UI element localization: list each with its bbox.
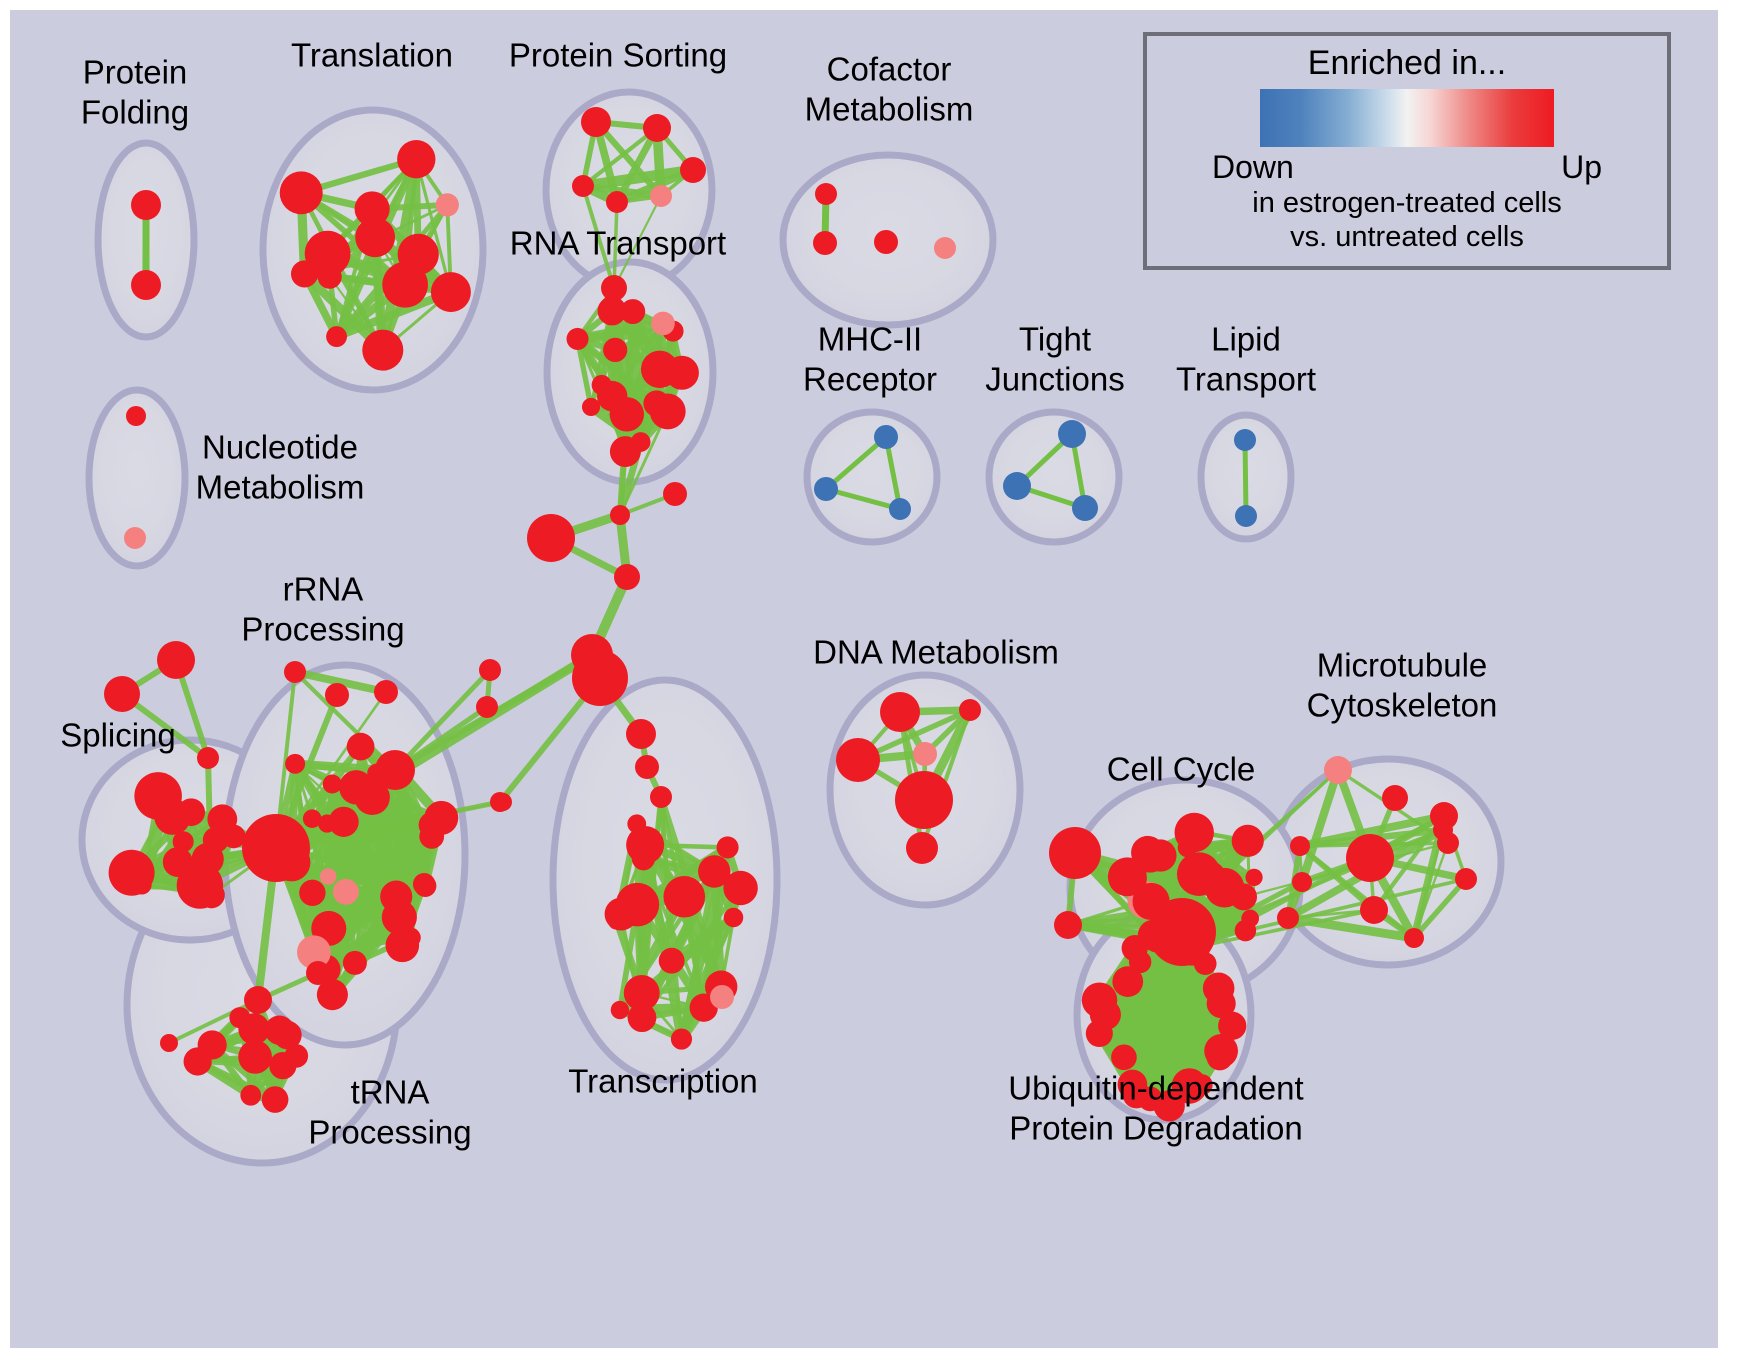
network-node[interactable]	[476, 696, 498, 718]
network-node[interactable]	[1049, 827, 1101, 879]
cluster-label-mhc-ii-receptor: Receptor	[803, 361, 937, 398]
network-node[interactable]	[643, 390, 669, 416]
network-node[interactable]	[244, 986, 272, 1014]
network-node[interactable]	[280, 171, 323, 214]
network-node[interactable]	[285, 1044, 309, 1068]
network-node[interactable]	[1218, 1012, 1246, 1040]
network-node[interactable]	[814, 477, 838, 501]
network-node[interactable]	[1194, 952, 1217, 975]
network-node[interactable]	[197, 747, 219, 769]
cluster-label-transcription: Transcription	[568, 1063, 758, 1100]
network-node[interactable]	[490, 792, 510, 812]
network-node[interactable]	[156, 798, 175, 817]
network-node[interactable]	[1292, 872, 1312, 892]
legend-panel: Enriched in... Down Up in estrogen-treat…	[1143, 32, 1671, 270]
cluster-label-rrna-processing: Processing	[241, 611, 404, 648]
network-node[interactable]	[572, 175, 594, 197]
network-node[interactable]	[959, 699, 981, 721]
cluster-label-tight-junctions: Junctions	[985, 361, 1124, 398]
network-node[interactable]	[203, 827, 229, 853]
legend-low-label: Down	[1212, 149, 1294, 186]
network-edge	[1245, 440, 1246, 516]
network-node[interactable]	[895, 771, 953, 829]
network-node[interactable]	[723, 871, 757, 905]
network-node[interactable]	[436, 193, 459, 216]
network-node[interactable]	[680, 157, 706, 183]
network-node[interactable]	[306, 961, 330, 985]
network-node[interactable]	[1205, 868, 1245, 908]
network-node[interactable]	[320, 868, 337, 885]
network-node[interactable]	[333, 879, 359, 905]
cluster-label-cell-cycle: Cell Cycle	[1107, 751, 1256, 788]
cluster-label-nucleotide-metabolism: Nucleotide	[202, 429, 358, 466]
network-node[interactable]	[1290, 836, 1310, 856]
network-node[interactable]	[889, 498, 911, 520]
network-node[interactable]	[355, 217, 395, 257]
network-node[interactable]	[710, 985, 734, 1009]
network-node[interactable]	[874, 230, 898, 254]
cluster-label-trna-processing: tRNA	[351, 1074, 430, 1111]
cluster-label-lipid-transport: Lipid	[1211, 321, 1281, 358]
network-node[interactable]	[1241, 910, 1259, 928]
network-node[interactable]	[582, 398, 600, 416]
network-node[interactable]	[284, 661, 306, 683]
network-node[interactable]	[1245, 869, 1262, 886]
network-node[interactable]	[397, 140, 435, 178]
network-node[interactable]	[126, 406, 146, 426]
legend-caption-line-2: vs. untreated cells	[1290, 220, 1524, 254]
network-node[interactable]	[663, 482, 687, 506]
cluster-label-nucleotide-metabolism: Metabolism	[196, 469, 365, 506]
network-node[interactable]	[109, 850, 155, 896]
network-node[interactable]	[323, 775, 342, 794]
legend-caption-line-1: in estrogen-treated cells	[1252, 186, 1562, 220]
network-node[interactable]	[382, 900, 417, 935]
network-node[interactable]	[1179, 925, 1210, 956]
network-node[interactable]	[157, 641, 195, 679]
cluster-label-microtubule-cytoskeleton: Cytoskeleton	[1307, 687, 1498, 724]
cluster-label-ubiquitin-dependent-protein-degradation: Protein Degradation	[1009, 1110, 1303, 1147]
network-node[interactable]	[225, 826, 245, 846]
network-node[interactable]	[1072, 495, 1098, 521]
network-node[interactable]	[1129, 951, 1151, 973]
network-node[interactable]	[567, 328, 589, 350]
network-node[interactable]	[611, 1001, 629, 1019]
network-node[interactable]	[1058, 420, 1086, 448]
network-node[interactable]	[1207, 1044, 1233, 1070]
cluster-label-mhc-ii-receptor: MHC-II	[818, 321, 922, 358]
network-node[interactable]	[1235, 505, 1257, 527]
cluster-label-protein-folding: Folding	[81, 94, 189, 131]
network-node[interactable]	[934, 237, 956, 259]
network-node[interactable]	[659, 948, 685, 974]
network-node[interactable]	[1382, 785, 1408, 811]
network-node[interactable]	[242, 814, 310, 882]
network-node[interactable]	[671, 1028, 692, 1049]
network-node[interactable]	[160, 1034, 178, 1052]
network-node[interactable]	[581, 107, 611, 137]
network-node[interactable]	[479, 659, 501, 681]
network-node[interactable]	[1437, 832, 1459, 854]
network-node[interactable]	[592, 375, 612, 395]
network-node[interactable]	[1346, 834, 1394, 882]
network-node[interactable]	[650, 185, 672, 207]
network-node[interactable]	[665, 356, 699, 390]
network-node[interactable]	[1277, 907, 1299, 929]
network-node[interactable]	[177, 798, 205, 826]
network-node[interactable]	[724, 908, 744, 928]
network-node[interactable]	[606, 191, 628, 213]
network-node[interactable]	[1404, 928, 1424, 948]
network-node[interactable]	[1455, 868, 1477, 890]
network-node[interactable]	[362, 330, 403, 371]
network-node[interactable]	[374, 680, 398, 704]
network-node[interactable]	[603, 338, 627, 362]
network-node[interactable]	[414, 875, 436, 897]
network-node[interactable]	[124, 527, 146, 549]
network-node[interactable]	[601, 275, 627, 301]
network-node[interactable]	[1360, 896, 1388, 924]
cluster-label-cofactor-metabolism: Cofactor	[827, 51, 952, 88]
legend-color-gradient-bar	[1260, 89, 1554, 147]
network-node[interactable]	[663, 876, 705, 918]
network-node[interactable]	[238, 1040, 272, 1074]
halo-mhc-ii-receptor	[807, 412, 937, 542]
network-node[interactable]	[1054, 911, 1082, 939]
network-node[interactable]	[614, 564, 640, 590]
legend-endpoint-labels: Down Up	[1212, 149, 1602, 186]
network-node[interactable]	[1232, 825, 1264, 857]
network-node[interactable]	[326, 326, 347, 347]
network-node[interactable]	[375, 750, 415, 790]
network-node[interactable]	[874, 425, 898, 449]
network-node[interactable]	[1324, 756, 1352, 784]
network-node[interactable]	[325, 683, 349, 707]
network-node[interactable]	[163, 847, 193, 877]
network-node[interactable]	[299, 880, 325, 906]
network-node[interactable]	[1111, 1044, 1137, 1070]
network-node[interactable]	[240, 1085, 261, 1106]
network-node[interactable]	[329, 807, 359, 837]
network-node[interactable]	[572, 650, 628, 706]
network-node[interactable]	[624, 975, 660, 1011]
network-node[interactable]	[836, 738, 880, 782]
network-node[interactable]	[431, 272, 471, 312]
cluster-label-cofactor-metabolism: Metabolism	[805, 91, 974, 128]
network-node[interactable]	[347, 733, 375, 761]
network-node[interactable]	[610, 505, 630, 525]
network-node[interactable]	[626, 719, 656, 749]
network-node[interactable]	[1430, 802, 1458, 830]
network-node[interactable]	[398, 234, 439, 275]
network-node[interactable]	[626, 826, 664, 864]
network-node[interactable]	[198, 1030, 227, 1059]
network-node[interactable]	[906, 832, 938, 864]
cluster-label-ubiquitin-dependent-protein-degradation: Ubiquitin-dependent	[1008, 1070, 1303, 1107]
network-node[interactable]	[880, 692, 920, 732]
cluster-label-protein-folding: Protein	[83, 54, 188, 91]
cluster-label-protein-sorting: Protein Sorting	[509, 37, 727, 74]
cluster-label-dna-metabolism: DNA Metabolism	[813, 634, 1059, 671]
network-node[interactable]	[650, 786, 672, 808]
legend-title: Enriched in...	[1308, 44, 1506, 83]
network-node[interactable]	[1234, 429, 1256, 451]
legend-high-label: Up	[1561, 149, 1602, 186]
network-node[interactable]	[419, 824, 444, 849]
network-node[interactable]	[643, 114, 671, 142]
cluster-label-trna-processing: Processing	[308, 1114, 471, 1151]
network-node[interactable]	[1082, 982, 1117, 1017]
enrichment-map-figure: ProteinFoldingTranslationProtein Sorting…	[0, 0, 1750, 1360]
cluster-label-rrna-processing: rRNA	[283, 571, 364, 608]
network-node[interactable]	[635, 755, 659, 779]
network-node[interactable]	[608, 912, 626, 930]
cluster-label-tight-junctions: Tight	[1019, 321, 1091, 358]
network-node[interactable]	[631, 432, 651, 452]
network-node[interactable]	[717, 836, 739, 858]
cluster-label-rna-transport: RNA Transport	[510, 225, 726, 262]
network-node[interactable]	[262, 1086, 289, 1113]
network-node[interactable]	[131, 190, 161, 220]
network-node[interactable]	[913, 742, 937, 766]
cluster-label-splicing: Splicing	[60, 717, 176, 754]
network-node[interactable]	[343, 951, 367, 975]
network-node[interactable]	[813, 231, 837, 255]
network-node[interactable]	[1003, 472, 1031, 500]
network-node[interactable]	[815, 183, 837, 205]
cluster-label-lipid-transport: Transport	[1176, 361, 1316, 398]
network-node[interactable]	[651, 312, 675, 336]
network-node[interactable]	[104, 676, 140, 712]
network-node[interactable]	[285, 754, 305, 774]
cluster-label-microtubule-cytoskeleton: Microtubule	[1317, 647, 1488, 684]
network-node[interactable]	[131, 270, 161, 300]
network-node[interactable]	[1144, 839, 1176, 871]
network-node[interactable]	[527, 514, 575, 562]
network-node[interactable]	[305, 231, 351, 277]
cluster-label-translation: Translation	[291, 37, 453, 74]
